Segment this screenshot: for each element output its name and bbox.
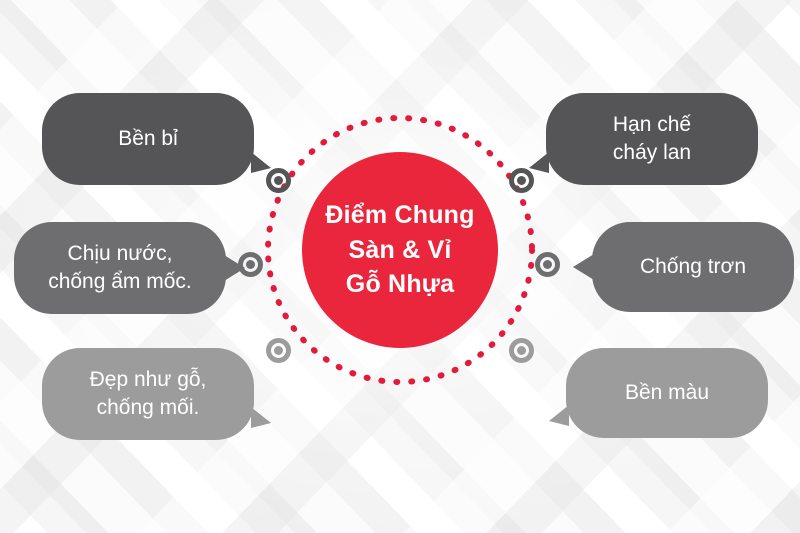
marker-center-dot [274,176,283,185]
marker-dep-nhu-go-icon [266,338,291,363]
marker-center-dot [274,346,283,355]
center-circle: Điểm Chung Sàn & Vỉ Gỗ Nhựa [302,152,498,348]
center-line-1: Điểm Chung [325,198,474,233]
bubble-ben-mau[interactable]: Bền màu [566,348,768,438]
bubble-text-line: Bền màu [625,379,709,407]
bubble-tail [251,152,271,173]
bubble-tail [224,255,245,281]
marker-chong-tron-icon [535,252,560,277]
bubble-han-che-chay-lan[interactable]: Hạn chếcháy lan [546,93,758,185]
bubble-label: Đẹp như gỗ,chống mối. [90,366,207,421]
bubble-label: Bền bỉ [118,125,178,153]
bubble-text-line: chống mối. [90,394,207,422]
bubble-label: Bền màu [625,379,709,407]
bubble-text-line: Hạn chế [613,111,691,139]
marker-center-dot [517,346,526,355]
bubble-label: Chống trơn [640,253,746,281]
bubble-tail [251,407,271,428]
bubble-text-line: Đẹp như gỗ, [90,366,207,394]
center-line-3: Gỗ Nhựa [325,267,474,302]
bubble-text-line: Chống trơn [640,253,746,281]
center-line-2: Sàn & Vỉ [325,233,474,268]
bubble-tail [529,152,549,173]
bubble-tail [573,254,594,280]
marker-center-dot [246,260,255,269]
bubble-dep-nhu-go[interactable]: Đẹp như gỗ,chống mối. [42,348,254,440]
bubble-text-line: chống ẩm mốc. [48,268,192,296]
bubble-text-line: Chịu nước, [48,240,192,268]
bubble-tail [549,405,569,426]
bubble-text-line: cháy lan [613,139,691,167]
bubble-label: Chịu nước,chống ẩm mốc. [48,240,192,295]
bubble-chong-tron[interactable]: Chống trơn [592,222,794,312]
infographic-canvas: Điểm Chung Sàn & Vỉ Gỗ Nhựa Bền bỉChịu n… [0,0,800,533]
bubble-ben-bi[interactable]: Bền bỉ [42,93,254,185]
marker-ben-mau-icon [509,338,534,363]
bubble-text-line: Bền bỉ [118,125,178,153]
bubble-label: Hạn chếcháy lan [613,111,691,166]
center-label: Điểm Chung Sàn & Vỉ Gỗ Nhựa [325,198,474,302]
bubble-chiu-nuoc[interactable]: Chịu nước,chống ẩm mốc. [14,222,226,314]
marker-center-dot [517,176,526,185]
marker-center-dot [543,260,552,269]
